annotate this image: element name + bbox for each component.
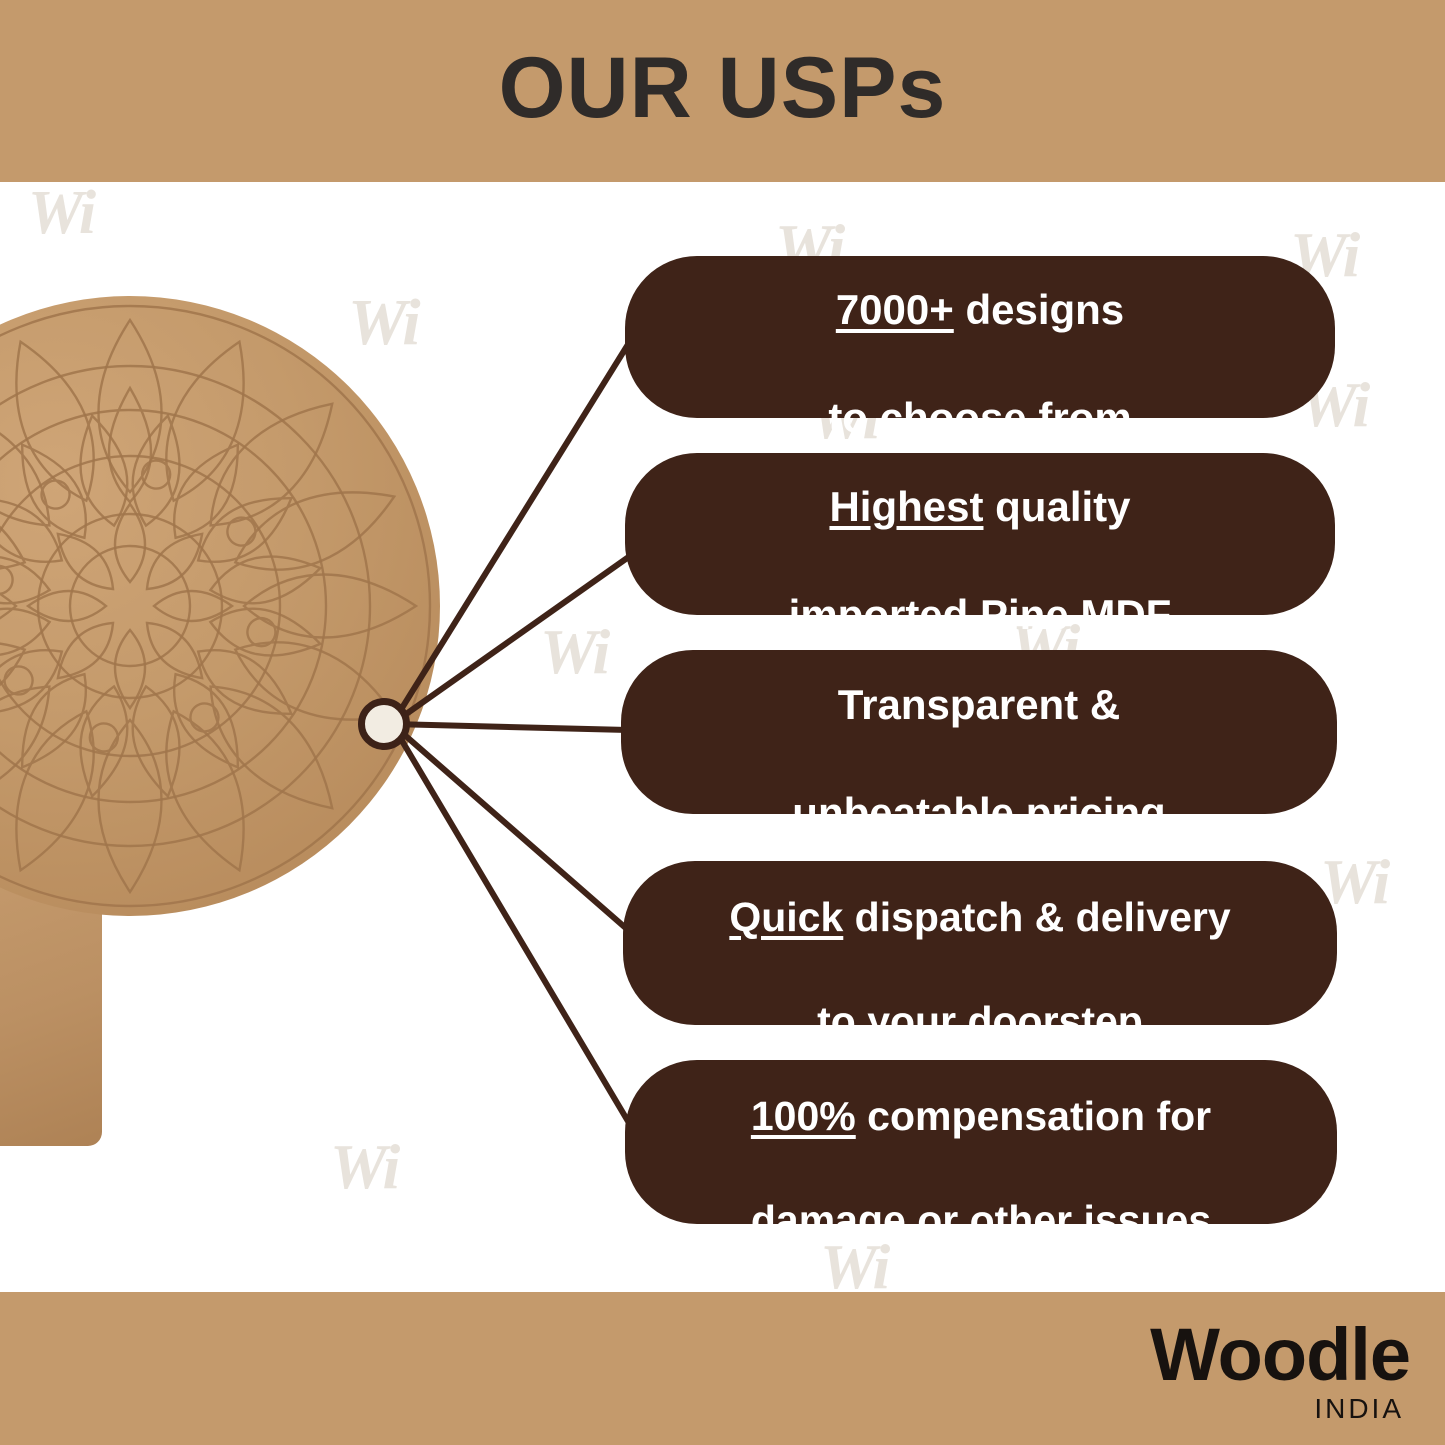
brand-subtitle: INDIA [1010,1394,1404,1424]
infographic-page: Wi Wi Wi Wi Wi Wi Wi Wi Wi Wi Wi Wi [0,0,1445,1445]
usp-line1-rest: compensation for [856,1093,1211,1139]
usp-emphasis: Highest [829,483,983,530]
usp-pill-dispatch-delivery: Quick dispatch & delivery to your doorst… [623,861,1337,1025]
connector-line-5 [392,724,632,1128]
page-title: OUR USPs [0,0,1445,182]
connector-line-4 [392,724,628,930]
usp-emphasis: Quick [729,894,843,940]
usp-line1: Transparent & [838,681,1120,728]
usp-emphasis: 100% [751,1093,856,1139]
usp-emphasis: 7000+ [836,286,954,333]
usp-line1-rest: designs [954,286,1124,333]
usp-pill-designs-count: 7000+ designs to choose from [625,256,1335,418]
brand-logo: Woodle INDIA [1010,1316,1410,1434]
usp-emphasis: pricing [1026,789,1166,836]
connector-line-3 [392,724,628,730]
usp-line1-rest: dispatch & delivery [843,894,1230,940]
usp-line2: damage or other issues [751,1197,1211,1243]
usp-pill-material-quality: Highest quality imported Pine MDF [625,453,1335,615]
usp-line2-prefix: unbeatable [792,789,1025,836]
usp-line1-rest: quality [983,483,1130,530]
connector-line-2 [392,556,630,724]
brand-name: Woodle [1010,1316,1410,1394]
connector-line-1 [392,338,632,724]
usp-pill-compensation: 100% compensation for damage or other is… [625,1060,1337,1224]
usp-pill-pricing: Transparent & unbeatable pricing [621,650,1337,814]
connector-hub [358,698,410,750]
